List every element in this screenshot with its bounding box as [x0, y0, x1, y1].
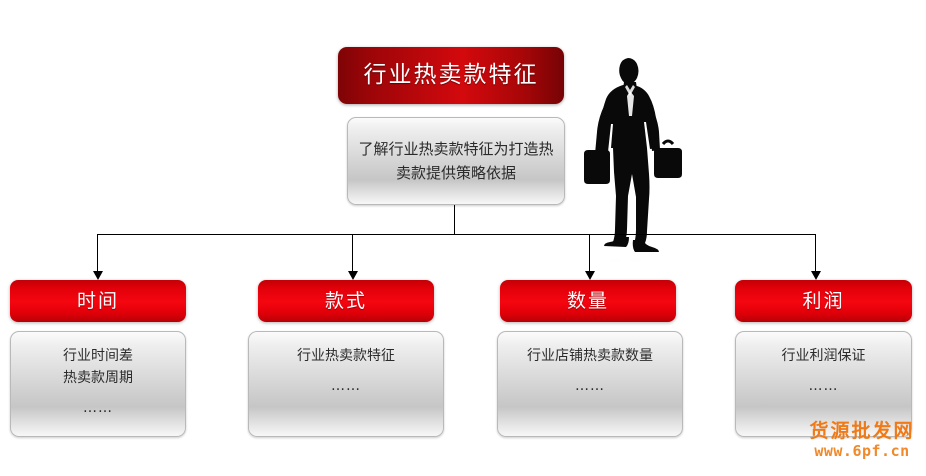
arrow-head-icon-4 [811, 271, 821, 280]
connector-drop-4 [815, 234, 816, 273]
category-chip-label-3: 数量 [567, 292, 609, 311]
connector-horizontal-bus [97, 234, 816, 235]
category-card-dots-4: …… [746, 375, 901, 397]
category-chip-4[interactable]: 利润 [735, 280, 912, 322]
category-chip-label-4: 利润 [802, 292, 844, 311]
diagram-title-box: 行业热卖款特征 [338, 47, 564, 104]
category-chip-2[interactable]: 款式 [258, 280, 434, 322]
connector-drop-3 [589, 234, 590, 273]
category-card-line-3-1: 行业店铺热卖款数量 [508, 345, 672, 367]
category-card-dots-3: …… [508, 375, 672, 397]
watermark-url: www.6pf.cn [800, 442, 924, 461]
page-title: 行业热卖款特征 [364, 64, 539, 87]
category-card-line-4-1: 行业利润保证 [746, 345, 901, 367]
category-chip-1[interactable]: 时间 [10, 280, 186, 322]
arrow-head-icon-2 [348, 271, 358, 280]
arrow-head-icon-3 [585, 271, 595, 280]
connector-drop-1 [97, 234, 98, 273]
category-card-dots-1: …… [21, 397, 175, 419]
category-card-4: 行业利润保证 …… [735, 331, 912, 437]
category-chip-3[interactable]: 数量 [500, 280, 676, 322]
category-card-2: 行业热卖款特征 …… [248, 331, 444, 437]
category-card-dots-2: …… [259, 375, 433, 397]
category-card-3: 行业店铺热卖款数量 …… [497, 331, 683, 437]
category-card-1: 行业时间差 热卖款周期 …… [10, 331, 186, 437]
category-card-line-1-1: 行业时间差 [21, 345, 175, 367]
category-chip-label-2: 款式 [325, 292, 367, 311]
connector-drop-2 [352, 234, 353, 273]
diagram-subtitle-box: 了解行业热卖款特征为打造热卖款提供策略依据 [347, 117, 565, 205]
category-chip-label-1: 时间 [77, 292, 119, 311]
connector-stem [454, 205, 455, 235]
diagram-canvas: 行业热卖款特征 了解行业热卖款特征为打造热卖款提供策略依据 [0, 0, 926, 476]
category-card-line-2-1: 行业热卖款特征 [259, 345, 433, 367]
category-card-line-1-2: 热卖款周期 [21, 367, 175, 389]
diagram-subtitle-text: 了解行业热卖款特征为打造热卖款提供策略依据 [358, 137, 554, 185]
businessman-silhouette-icon [568, 30, 700, 262]
arrow-head-icon-1 [93, 271, 103, 280]
